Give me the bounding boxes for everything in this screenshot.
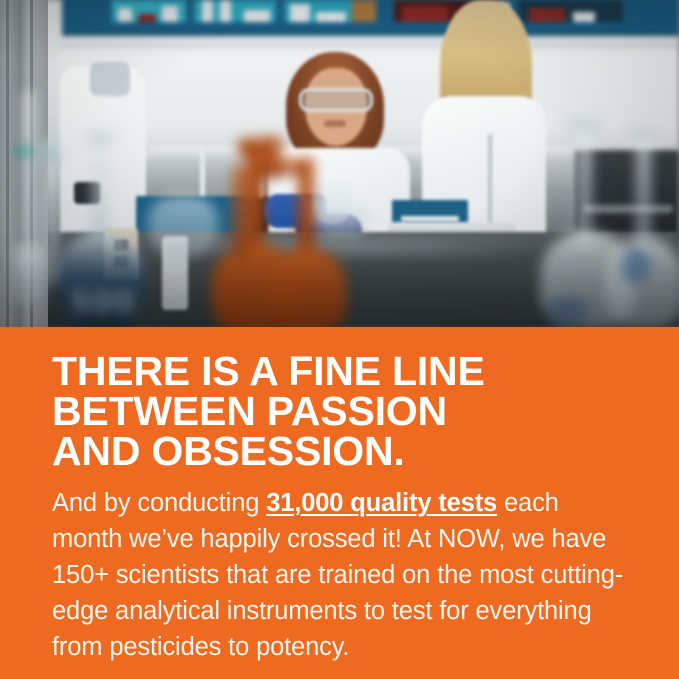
cabinet-bottle	[220, 0, 231, 22]
cabinet-bottle	[118, 8, 132, 22]
burette-base	[14, 246, 44, 308]
cabinet-bottle	[202, 0, 213, 22]
flask-stopper	[86, 128, 114, 144]
volume-mark	[16, 148, 32, 155]
frame-seam	[6, 0, 9, 327]
cabinet-bottle	[573, 12, 595, 22]
body-segment-1: And by conducting	[52, 489, 266, 517]
cabinet-box	[352, 0, 376, 22]
cabinet-bottle	[316, 12, 346, 22]
cabinet-pane	[282, 0, 378, 24]
cabinet-shelf	[60, 36, 679, 48]
page-title: THERE IS A FINE LINE BETWEEN PASSION AND…	[52, 351, 652, 471]
upper-cabinet-band	[62, 0, 679, 38]
cabinet-bottle	[162, 6, 178, 22]
clear-flask-neck	[576, 124, 592, 246]
burette-stem	[46, 164, 58, 284]
clear-flask-stopper	[568, 112, 600, 130]
cabinet-bottle	[138, 14, 156, 22]
coat-collar	[90, 62, 130, 96]
burette	[22, 92, 35, 272]
sample-tube	[200, 148, 205, 198]
cabinet-handle	[401, 216, 459, 221]
volumetric-flask-neck	[92, 140, 107, 244]
body-copy: And by conducting 31,000 quality tests e…	[52, 485, 630, 665]
cabinet-bottle	[244, 10, 270, 22]
stat-highlight: 31,000 quality tests	[266, 489, 497, 517]
orange-text-panel: THERE IS A FINE LINE BETWEEN PASSION AND…	[0, 327, 679, 679]
safety-glasses-icon	[299, 88, 373, 112]
beaker-foreground	[314, 196, 368, 236]
mouth	[324, 120, 346, 127]
cabinet-pane	[192, 0, 278, 24]
clear-flask-stopper	[628, 122, 658, 138]
cabinet-pane	[110, 0, 188, 24]
flask-liquid	[546, 296, 590, 324]
flask-volume-label: 500	[70, 286, 136, 321]
amber-flask-ring	[250, 158, 306, 176]
clear-flask-neck	[636, 134, 651, 246]
amber-flask-neck	[232, 166, 246, 258]
shelf-board	[583, 205, 673, 213]
flask-liquid	[620, 248, 650, 284]
cabinet-bottle	[290, 4, 310, 22]
amber-flask-bulb	[268, 248, 346, 327]
lab-photo: 500	[0, 0, 679, 327]
marketing-banner: 500	[0, 0, 679, 679]
funnel	[148, 196, 218, 258]
